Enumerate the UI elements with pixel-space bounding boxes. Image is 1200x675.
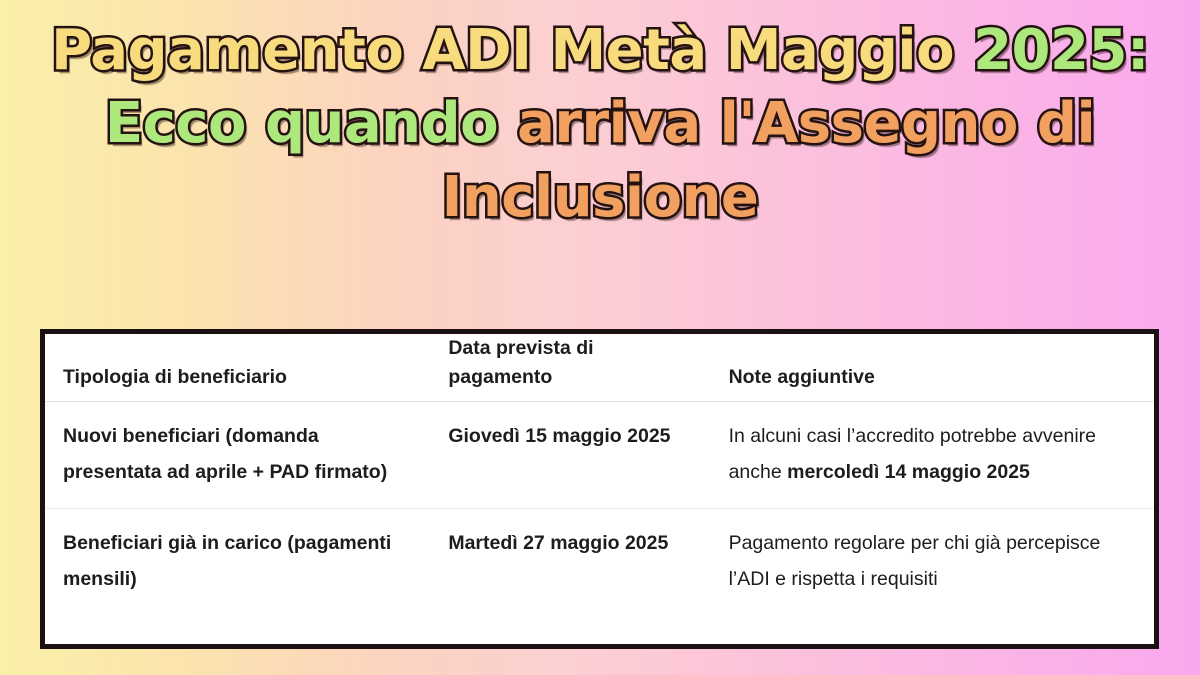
title-segment-orange-1: arriva l'Assegno di <box>517 91 1095 156</box>
column-header-beneficiary-type: Tipologia di beneficiario <box>45 334 421 402</box>
title-segment-green-2: Ecco quando <box>105 91 517 156</box>
cell-notes: In alcuni casi l’accredito potrebbe avve… <box>698 402 1154 509</box>
cell-expected-date: Giovedì 15 maggio 2025 <box>421 402 697 509</box>
payment-schedule-table: Tipologia di beneficiario Data prevista … <box>45 334 1154 615</box>
column-header-notes: Note aggiuntive <box>698 334 1154 402</box>
column-header-beneficiary-type-label: Tipologia di beneficiario <box>45 363 421 401</box>
cell-expected-date-value: Martedì 27 maggio 2025 <box>421 509 697 579</box>
table-row: Nuovi beneficiari (domanda presentata ad… <box>45 402 1154 509</box>
cell-notes-value: In alcuni casi l’accredito potrebbe avve… <box>698 402 1154 508</box>
cell-beneficiary-type: Beneficiari già in carico (pagamenti men… <box>45 509 421 616</box>
column-header-expected-date: Data prevista di pagamento <box>421 334 697 402</box>
page-title-line-3: Inclusione <box>0 160 1200 236</box>
title-segment-green-1: 2025: <box>973 18 1149 83</box>
table-header-row: Tipologia di beneficiario Data prevista … <box>45 334 1154 402</box>
cell-expected-date-value: Giovedì 15 maggio 2025 <box>421 402 697 472</box>
column-header-notes-label: Note aggiuntive <box>698 363 1154 401</box>
page-title-line-1: Pagamento ADI Metà Maggio 2025: <box>0 14 1200 87</box>
cell-beneficiary-type-value: Nuovi beneficiari (domanda presentata ad… <box>45 402 421 508</box>
cell-notes-emphasis: mercoledì 14 maggio 2025 <box>787 461 1030 483</box>
cell-notes-value: Pagamento regolare per chi già percepisc… <box>698 509 1154 615</box>
cell-beneficiary-type-value: Beneficiari già in carico (pagamenti men… <box>45 509 421 615</box>
cell-expected-date: Martedì 27 maggio 2025 <box>421 509 697 616</box>
table-row: Beneficiari già in carico (pagamenti men… <box>45 509 1154 616</box>
cell-notes-lead: Pagamento regolare per chi già percepisc… <box>729 532 1101 590</box>
title-segment-yellow-1: Pagamento ADI Metà Maggio <box>51 18 973 83</box>
page-title-line-2: Ecco quando arriva l'Assegno di <box>0 87 1200 160</box>
column-header-expected-date-label: Data prevista di pagamento <box>421 334 697 401</box>
cell-notes: Pagamento regolare per chi già percepisc… <box>698 509 1154 616</box>
cell-beneficiary-type: Nuovi beneficiari (domanda presentata ad… <box>45 402 421 509</box>
payment-schedule-table-container: Tipologia di beneficiario Data prevista … <box>40 329 1159 649</box>
title-segment-orange-2: Inclusione <box>442 165 759 230</box>
page-title: Pagamento ADI Metà Maggio 2025: Ecco qua… <box>0 0 1200 236</box>
